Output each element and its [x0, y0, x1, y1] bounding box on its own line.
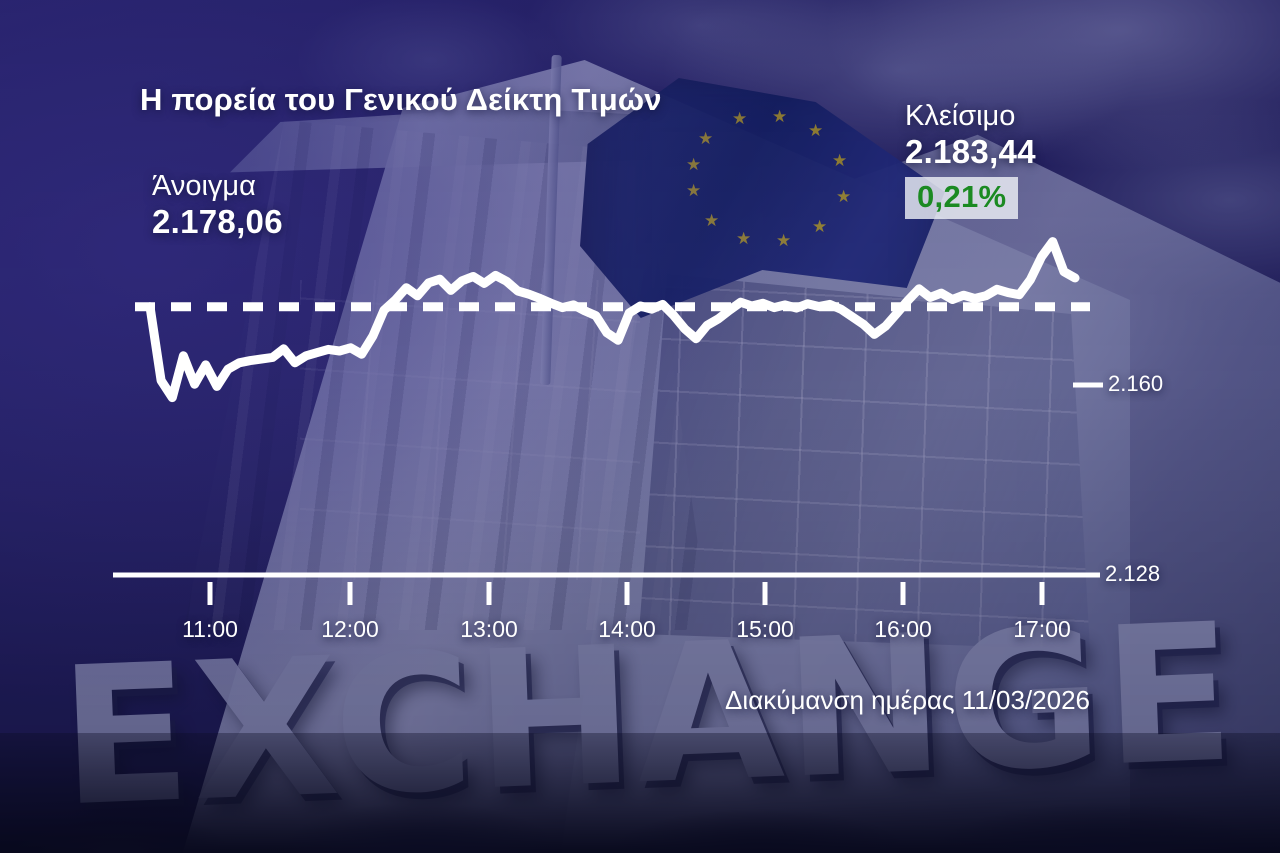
close-block: Κλείσιμο 2.183,44 0,21% — [905, 100, 1036, 219]
x-axis-label-1100: 11:00 — [182, 616, 238, 643]
x-axis-label-1600: 16:00 — [874, 616, 932, 643]
open-value: 2.178,06 — [152, 202, 283, 242]
x-axis-label-1300: 13:00 — [460, 616, 518, 643]
x-axis-label-1500: 15:00 — [736, 616, 794, 643]
close-value: 2.183,44 — [905, 132, 1036, 172]
y-axis-label-upper: 2.160 — [1108, 371, 1163, 397]
x-axis-label-1200: 12:00 — [321, 616, 379, 643]
infographic-stage: ★ ★ ★ ★ ★ ★ ★ ★ ★ ★ ★ ★ EXCHANGE — [0, 0, 1280, 853]
x-axis-ticks — [210, 582, 1042, 605]
x-axis-label-1400: 14:00 — [598, 616, 656, 643]
price-line — [150, 242, 1075, 398]
change-percent-badge: 0,21% — [905, 177, 1018, 219]
x-axis-label-1700: 17:00 — [1013, 616, 1071, 643]
page-title: Η πορεία του Γενικού Δείκτη Τιμών — [140, 82, 840, 118]
footer-caption: Διακύμανση ημέρας 11/03/2026 — [725, 685, 1090, 716]
close-label: Κλείσιμο — [905, 100, 1036, 132]
chart-svg — [0, 0, 1280, 853]
open-label: Άνοιγμα — [152, 170, 283, 202]
index-chart: 2.160 2.128 11:00 12:00 13:00 14:00 15:0… — [0, 0, 1280, 853]
open-block: Άνοιγμα 2.178,06 — [152, 170, 283, 242]
y-axis-label-lower: 2.128 — [1105, 561, 1160, 587]
